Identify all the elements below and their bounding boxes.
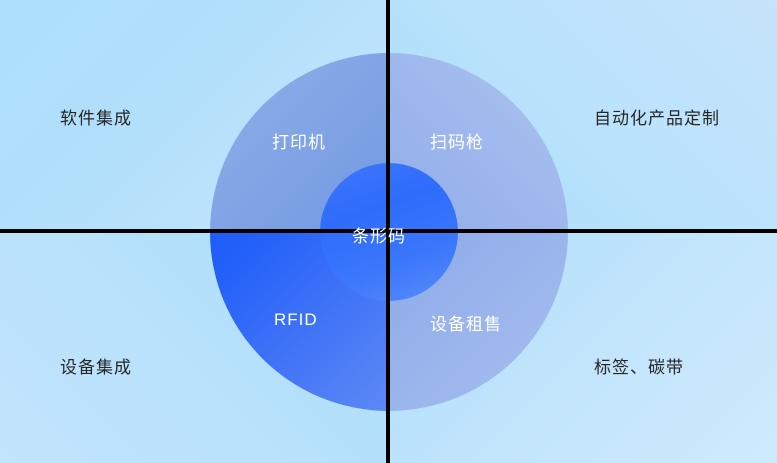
inner-label-bottom-right: 设备租售 [430, 310, 502, 335]
outer-label-bottom-right: 标签、碳带 [594, 353, 684, 378]
inner-label-top-right: 扫码枪 [430, 128, 484, 153]
outer-label-top-left: 软件集成 [60, 104, 132, 129]
diagram-canvas: 软件集成 自动化产品定制 设备集成 标签、碳带 打印机 扫码枪 RFID 设备租… [0, 0, 777, 463]
outer-label-bottom-left: 设备集成 [60, 353, 132, 378]
outer-label-top-right: 自动化产品定制 [594, 104, 720, 129]
center-hub-label: 条形码 [352, 222, 406, 247]
inner-label-bottom-left: RFID [274, 310, 318, 330]
inner-label-top-left: 打印机 [272, 128, 326, 153]
